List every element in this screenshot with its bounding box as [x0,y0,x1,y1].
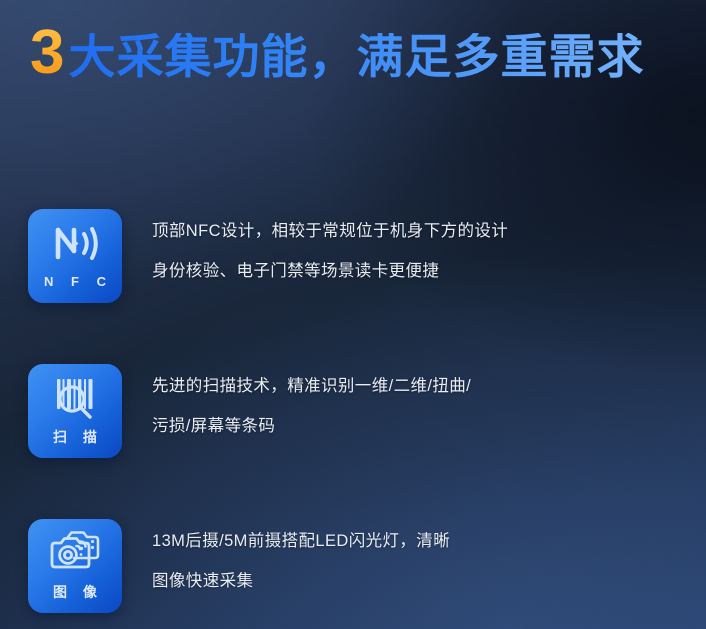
headline-number: 3 [30,22,64,84]
feature-description-image: 13M后摄/5M前摄搭配LED闪光灯，清晰 图像快速采集 [152,521,450,601]
feature-line: 图像快速采集 [152,561,450,601]
feature-tile-label: 扫 描 [47,430,103,444]
feature-icon-tile-nfc: N F C [28,209,122,303]
feature-line: 污损/屏幕等条码 [152,406,471,446]
barcode-scan-icon [44,373,106,423]
feature-icon-tile-scan: 扫 描 [28,364,122,458]
feature-line: 身份核验、电子门禁等场景读卡更便捷 [152,251,508,291]
headline-text: 大采集功能，满足多重需求 [68,33,644,80]
feature-description-nfc: 顶部NFC设计，相较于常规位于机身下方的设计 身份核验、电子门禁等场景读卡更便捷 [152,211,508,291]
feature-line: 顶部NFC设计，相较于常规位于机身下方的设计 [152,211,508,251]
camera-image-icon [44,528,106,578]
feature-line: 13M后摄/5M前摄搭配LED闪光灯，清晰 [152,521,450,561]
feature-line: 先进的扫描技术，精准识别一维/二维/扭曲/ [152,366,471,406]
feature-row-scan: 扫 描 先进的扫描技术，精准识别一维/二维/扭曲/ 污损/屏幕等条码 [0,350,706,505]
feature-icon-tile-image: 图 像 [28,519,122,613]
page-title: 3 大采集功能，满足多重需求 [30,22,644,84]
promo-page: 3 大采集功能，满足多重需求 N F C [0,0,706,629]
nfc-icon [44,218,106,268]
feature-description-scan: 先进的扫描技术，精准识别一维/二维/扭曲/ 污损/屏幕等条码 [152,366,471,446]
feature-list: N F C 顶部NFC设计，相较于常规位于机身下方的设计 身份核验、电子门禁等场… [0,195,706,629]
feature-tile-label: 图 像 [47,585,103,599]
feature-tile-label: N F C [37,275,113,288]
feature-row-image: 图 像 13M后摄/5M前摄搭配LED闪光灯，清晰 图像快速采集 [0,505,706,629]
feature-row-nfc: N F C 顶部NFC设计，相较于常规位于机身下方的设计 身份核验、电子门禁等场… [0,195,706,350]
